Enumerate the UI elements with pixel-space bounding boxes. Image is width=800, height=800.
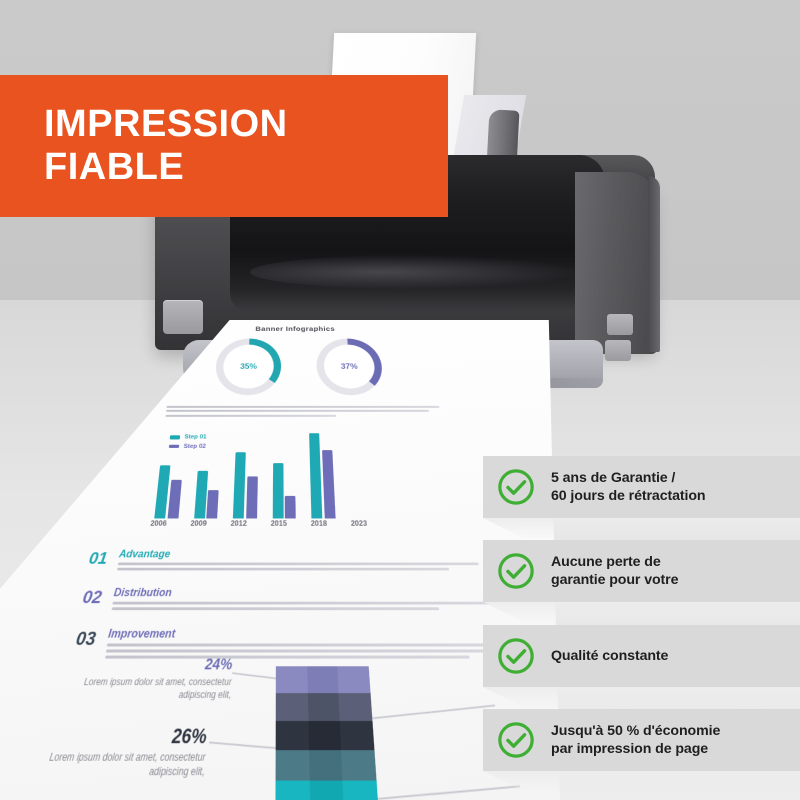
bar-group: [194, 471, 220, 519]
feature-line-2: garantie pour votre: [551, 571, 678, 589]
step-body: Advantage: [116, 548, 495, 574]
feature-callout-2: Aucune perte de garantie pour votre: [483, 540, 800, 602]
check-circle-icon: [497, 637, 535, 675]
bar-group: [272, 463, 296, 518]
bar-step02: [167, 480, 181, 519]
step-number: 03: [65, 627, 98, 649]
bar-group: [154, 465, 182, 518]
bar-chart: [154, 429, 464, 518]
donut-chart: 37%: [316, 339, 385, 396]
pencil-funnel: [275, 666, 383, 800]
printer-drum-highlight: [250, 255, 580, 289]
pencil-segment: [276, 666, 371, 693]
funnel-stat: 24% Lorem ipsum dolor sit amet, consecte…: [46, 657, 233, 703]
bar-step01: [272, 463, 283, 518]
feature-callout-text: Jusqu'à 50 % d'économie par impression d…: [551, 722, 720, 759]
feature-callout-3: Qualité constante: [483, 625, 800, 687]
feature-callout-1: 5 ans de Garantie / 60 jours de rétracta…: [483, 456, 800, 518]
donut-label: 37%: [341, 362, 358, 370]
feature-line-1: Jusqu'à 50 % d'économie: [551, 722, 720, 740]
headline-line-2: FIABLE: [44, 146, 448, 189]
bar-step01: [233, 452, 246, 518]
feature-line-2: par impression de page: [551, 740, 720, 758]
feature-line-1: Aucune perte de: [551, 553, 678, 571]
pencil-segment: [276, 721, 375, 750]
axis-tick-label: 2018: [307, 521, 332, 528]
axis-tick-label: 2012: [226, 521, 251, 528]
step-heading: Improvement: [108, 627, 508, 640]
bar-group: [309, 433, 335, 518]
funnel-text: Lorem ipsum dolor sit amet, consectetur …: [8, 752, 206, 781]
pencil-segment: [276, 750, 377, 780]
check-circle-icon: [497, 552, 535, 590]
axis-tick-label: 2009: [186, 521, 211, 528]
feature-line-2: 60 jours de rétractation: [551, 487, 706, 505]
printer-left-button[interactable]: [163, 300, 203, 334]
headline-banner: IMPRESSION FIABLE: [0, 75, 448, 217]
bar-step02: [206, 490, 218, 518]
printer-right-button-bottom[interactable]: [605, 340, 631, 361]
donut-label: 35%: [240, 362, 257, 370]
step-heading: Advantage: [118, 548, 493, 560]
printer-right-edge: [648, 176, 660, 352]
feature-line-1: 5 ans de Garantie /: [551, 469, 706, 487]
funnel-percent: 24%: [51, 657, 233, 674]
step-number: 02: [72, 586, 104, 607]
donut-chart-group: 35% 37%: [175, 339, 423, 396]
leader-line: [372, 705, 495, 719]
feature-line-1: Qualité constante: [551, 647, 668, 665]
bar-step02: [322, 450, 336, 518]
check-circle-icon: [497, 468, 535, 506]
funnel-percent: 26%: [14, 724, 207, 748]
pencil-segment: [276, 693, 373, 721]
feature-callout-text: Aucune perte de garantie pour votre: [551, 553, 678, 590]
bar-step02: [285, 496, 296, 519]
donut-chart: 35%: [214, 339, 281, 396]
axis-tick-label: 2023: [347, 521, 372, 528]
bar-step02: [246, 476, 258, 518]
infographic-paragraph: [165, 406, 441, 419]
bar-group: [233, 452, 258, 518]
feature-callout-4: Jusqu'à 50 % d'économie par impression d…: [483, 709, 800, 771]
axis-tick-label: 2015: [267, 521, 291, 528]
feature-callout-text: 5 ans de Garantie / 60 jours de rétracta…: [551, 469, 706, 506]
check-circle-icon: [497, 721, 535, 759]
pencil-segment: [275, 781, 378, 800]
bar-step01: [194, 471, 208, 519]
printer-right-button-top[interactable]: [607, 314, 633, 335]
promo-image: Banner Infographics 35% 37%: [0, 0, 800, 800]
step-item: 01 Advantage: [77, 548, 495, 574]
leader-line: [378, 785, 520, 799]
bar-step01: [309, 433, 322, 518]
headline-line-1: IMPRESSION: [44, 103, 448, 146]
bar-chart-axis-labels: 2006 2009 2012 2015 2018 2023: [146, 521, 473, 528]
step-number: 01: [78, 548, 109, 567]
step-item: 02 Distribution: [70, 586, 502, 614]
feature-callout-text: Qualité constante: [551, 647, 668, 665]
axis-tick-label: 2006: [146, 521, 171, 528]
funnel-text: Lorem ipsum dolor sit amet, consectetur …: [46, 677, 232, 703]
step-heading: Distribution: [113, 586, 500, 598]
step-body: Distribution: [111, 586, 503, 614]
funnel-stat: 26% Lorem ipsum dolor sit amet, consecte…: [8, 724, 207, 781]
